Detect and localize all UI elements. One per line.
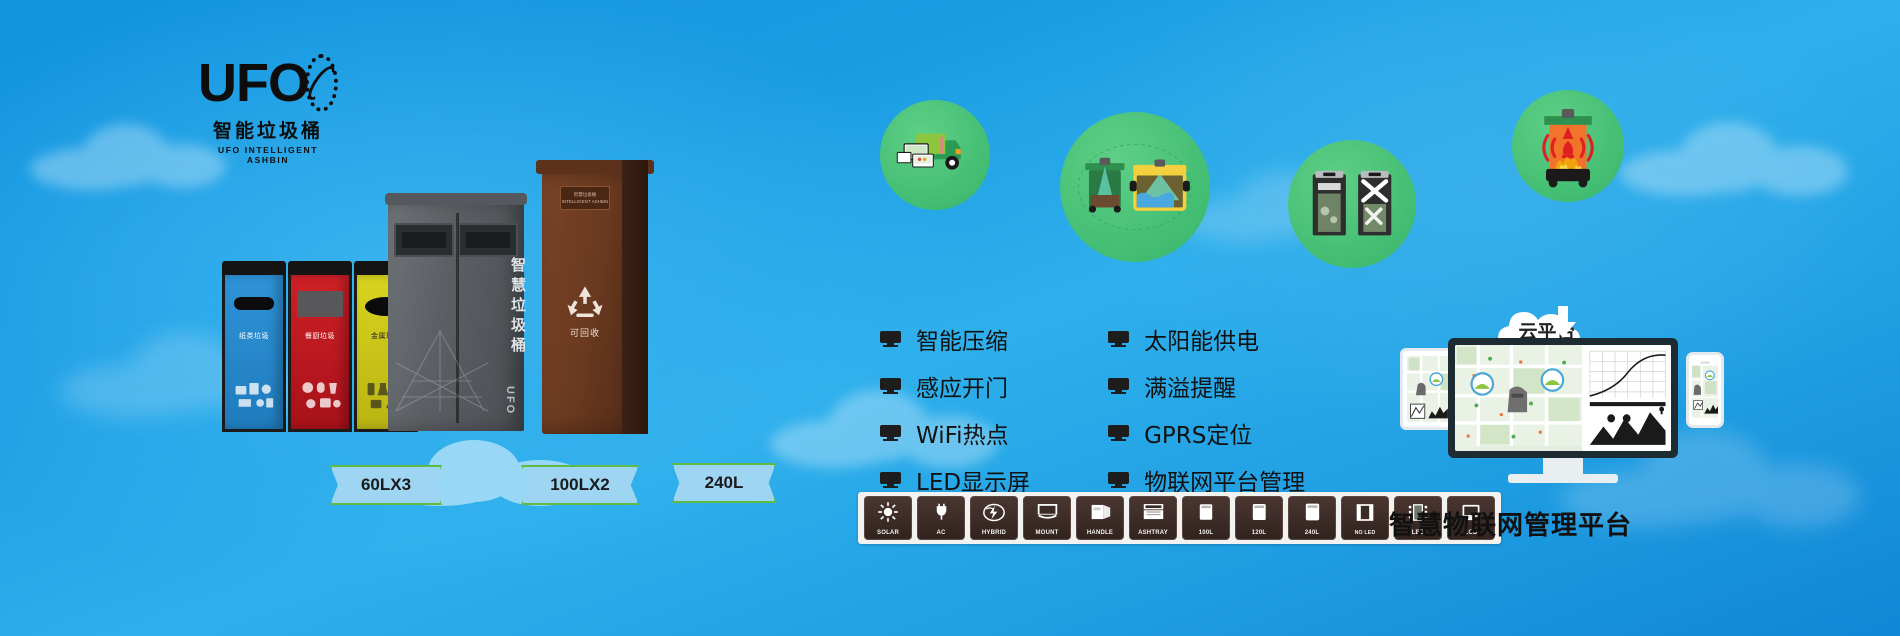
option-chip-hybrid[interactable]: HYBRID bbox=[970, 496, 1018, 540]
bin-compartment-paper: 纸类垃圾 bbox=[222, 272, 286, 432]
garbage-truck-with-monitoring-devices-icon bbox=[880, 100, 990, 210]
feature-item: 智能压缩 bbox=[880, 322, 1030, 356]
bin-fire-alarm-icon bbox=[1512, 90, 1624, 202]
chip-label: SOLAR bbox=[865, 530, 911, 536]
capacity-label: 100LX2 bbox=[550, 475, 610, 495]
phone-screen-map bbox=[1692, 358, 1718, 422]
monitor-base bbox=[1508, 474, 1618, 483]
two-bins-compression-icon bbox=[1288, 140, 1416, 268]
chip-label: HANDLE bbox=[1077, 530, 1123, 536]
option-chip-100l[interactable]: 100L bbox=[1182, 496, 1230, 540]
logo-name-cn: 智能垃圾桶 bbox=[198, 116, 338, 143]
bin-body-text: 智慧垃圾桶 bbox=[507, 257, 528, 357]
bin-door-left bbox=[394, 223, 454, 257]
bin-fill-level-sensor-icon bbox=[1060, 112, 1210, 262]
option-chip-240l[interactable]: 240L bbox=[1288, 496, 1336, 540]
single-large-bin: 智慧垃圾桶 INTELLIGENT ASHBIN 可回收 bbox=[542, 170, 648, 434]
cloud-decoration bbox=[1620, 120, 1850, 198]
chip-label: 100L bbox=[1183, 530, 1229, 536]
logo-wordmark-row: UFO bbox=[198, 52, 338, 114]
feature-column-right: 太阳能供电 满溢提醒 GPRS定位 物联网平台管理 bbox=[1108, 322, 1305, 497]
recycle-icon bbox=[564, 282, 606, 324]
chip-label: AC bbox=[918, 530, 964, 536]
option-chip-handle[interactable]: HANDLE bbox=[1076, 496, 1124, 540]
feature-label: GPRS定位 bbox=[1144, 416, 1252, 450]
monitor-icon bbox=[880, 331, 901, 347]
feature-label: 智能压缩 bbox=[916, 322, 1008, 356]
chip-label: HYBRID bbox=[971, 530, 1017, 536]
two-compartment-bin: 智慧垃圾桶 UFO bbox=[388, 201, 524, 431]
capacity-banner-60lx3: 60LX3 bbox=[330, 465, 442, 505]
bin-door-right bbox=[458, 223, 518, 257]
bin-slot-icon bbox=[234, 297, 274, 310]
fill-level-circle bbox=[1060, 112, 1210, 262]
capacity-banner-100lx2: 100LX2 bbox=[521, 465, 639, 505]
feature-item: 感应开门 bbox=[880, 369, 1030, 403]
bin-compartment-kitchen: 餐厨垃圾 bbox=[288, 272, 352, 432]
ashtray-icon bbox=[1138, 501, 1168, 523]
sun-icon bbox=[873, 501, 903, 523]
monitor-icon bbox=[1108, 472, 1129, 488]
compartment-artwork bbox=[297, 373, 343, 419]
option-chip-ac[interactable]: AC bbox=[917, 496, 965, 540]
monitor-icon bbox=[1108, 331, 1129, 347]
wall-mount-icon bbox=[1032, 501, 1062, 523]
option-chip-mount[interactable]: MOUNT bbox=[1023, 496, 1071, 540]
feature-label: 满溢提醒 bbox=[1144, 369, 1236, 403]
fire-alarm-circle bbox=[1512, 90, 1624, 202]
option-chip-ashtray[interactable]: ASHTRAY bbox=[1129, 496, 1177, 540]
bin-plate-icon bbox=[297, 291, 343, 317]
feature-list: 智能压缩 感应开门 WiFi热点 LED显示屏 太阳能供电 满溢提醒 bbox=[880, 322, 1305, 497]
logo-name-en: UFO INTELLIGENT ASHBIN bbox=[198, 145, 338, 165]
compression-circle bbox=[1288, 140, 1416, 268]
capacity-label: 240L bbox=[705, 473, 744, 493]
power-plug-icon bbox=[926, 501, 956, 523]
chip-label: 240L bbox=[1289, 530, 1335, 536]
ufo-ring-logo-icon bbox=[305, 54, 338, 112]
compartment-label: 纸类垃圾 bbox=[225, 331, 283, 341]
capacity-label: 60LX3 bbox=[361, 475, 411, 495]
option-chip-solar[interactable]: SOLAR bbox=[864, 496, 912, 540]
recycle-label: 可回收 bbox=[554, 326, 616, 339]
feature-label: 感应开门 bbox=[916, 369, 1008, 403]
monitor-icon bbox=[880, 472, 901, 488]
truck-dispatch-circle bbox=[880, 100, 990, 210]
desktop-monitor bbox=[1448, 338, 1678, 458]
hybrid-power-icon bbox=[979, 501, 1009, 523]
iot-platform-illustration bbox=[1400, 300, 1740, 490]
no-led-icon bbox=[1350, 501, 1380, 523]
monitor-icon bbox=[1108, 425, 1129, 441]
capacity-banner-240l: 240L bbox=[672, 463, 776, 503]
bin-display-screen: 智慧垃圾桶 INTELLIGENT ASHBIN bbox=[560, 186, 610, 210]
chip-label: ASHTRAY bbox=[1130, 530, 1176, 536]
bin-brand-mark: UFO bbox=[504, 386, 516, 415]
compartment-label: 餐厨垃圾 bbox=[291, 331, 349, 341]
chip-label: MOUNT bbox=[1024, 530, 1070, 536]
arrow-down-icon bbox=[1548, 306, 1578, 340]
option-chip-no-led[interactable]: NO LED bbox=[1341, 496, 1389, 540]
feature-item: 满溢提醒 bbox=[1108, 369, 1305, 403]
monitor-icon bbox=[880, 425, 901, 441]
feature-item: WiFi热点 bbox=[880, 416, 1030, 450]
monitor-icon bbox=[880, 378, 901, 394]
handle-icon bbox=[1085, 501, 1115, 523]
chart-panel bbox=[1582, 345, 1671, 451]
bin-screen-text: 智慧垃圾桶 INTELLIGENT ASHBIN bbox=[561, 187, 609, 206]
feature-column-left: 智能压缩 感应开门 WiFi热点 LED显示屏 bbox=[880, 322, 1030, 497]
option-chip-120l[interactable]: 120L bbox=[1235, 496, 1283, 540]
monitor-screen bbox=[1455, 345, 1671, 451]
feature-label: 太阳能供电 bbox=[1144, 322, 1259, 356]
platform-title: 智慧物联网管理平台 bbox=[1389, 505, 1632, 542]
logo-wordmark: UFO bbox=[198, 56, 309, 110]
chip-label: 120L bbox=[1236, 530, 1282, 536]
bin-120l-icon bbox=[1244, 501, 1274, 523]
map-panel bbox=[1455, 345, 1582, 451]
feature-item: GPRS定位 bbox=[1108, 416, 1305, 450]
brand-logo: UFO 智能垃圾桶 UFO INTELLIGENT ASHBIN bbox=[198, 52, 338, 165]
chip-label: NO LED bbox=[1342, 530, 1388, 536]
feature-label: WiFi热点 bbox=[916, 416, 1009, 450]
bin-240l-icon bbox=[1297, 501, 1327, 523]
monitor-icon bbox=[1108, 378, 1129, 394]
banner-stage: UFO 智能垃圾桶 UFO INTELLIGENT ASHBIN 纸类垃圾 bbox=[0, 0, 1900, 636]
feature-item: 太阳能供电 bbox=[1108, 322, 1305, 356]
bin-100l-icon bbox=[1191, 501, 1221, 523]
compartment-artwork bbox=[231, 373, 277, 419]
smartphone-device bbox=[1686, 352, 1724, 428]
